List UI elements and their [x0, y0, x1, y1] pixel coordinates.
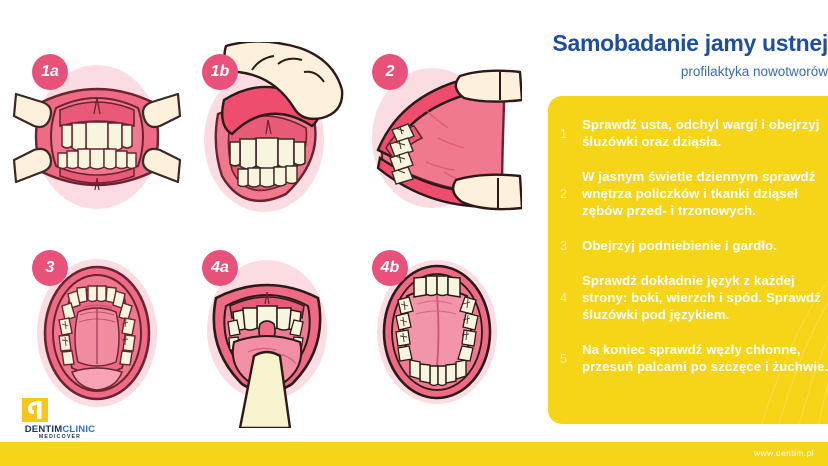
step-item: 1 Sprawdź usta, odchyl wargi i obejrzyj …	[560, 116, 828, 150]
step-badge-3: 3	[32, 250, 68, 286]
step-number: 4	[560, 290, 582, 305]
step-number: 3	[560, 238, 582, 253]
step-badge-4a: 4a	[202, 250, 238, 286]
step-item: 5 Na koniec sprawdź węzły chłonne, przes…	[560, 341, 828, 375]
page-title: Samobadanie jamy ustnej	[538, 30, 828, 57]
infographic-page: 1a 1b 2 3 4a 4b Samobadanie jamy ustnej …	[0, 0, 828, 466]
step-item: 4 Sprawdź dokładnie język z każdej stron…	[560, 272, 828, 323]
footer-bar: www.dentim.pl	[0, 442, 828, 466]
step-number: 1	[560, 126, 582, 141]
step-item: 3 Obejrzyj podniebienie i gardło.	[560, 237, 828, 254]
logo-mark-icon	[22, 398, 48, 422]
step-text: Na koniec sprawdź węzły chłonne, przesuń…	[582, 341, 828, 375]
step-badge-4b: 4b	[372, 250, 408, 286]
step-text: Obejrzyj podniebienie i gardło.	[582, 237, 777, 254]
step-badge-2: 2	[372, 54, 408, 90]
right-column: Samobadanie jamy ustnej profilaktyka now…	[528, 0, 828, 466]
steps-list: 1 Sprawdź usta, odchyl wargi i obejrzyj …	[548, 96, 828, 403]
page-subtitle: profilaktyka nowotworów	[538, 64, 828, 79]
steps-panel: 1 Sprawdź usta, odchyl wargi i obejrzyj …	[548, 96, 828, 424]
step-text: Sprawdź dokładnie język z każdej strony:…	[582, 272, 828, 323]
brand-logo: DENTIMCLINIC MEDICOVER	[12, 398, 132, 440]
step-text: W jasnym świetle dziennym sprawdź wnętrz…	[582, 168, 828, 219]
illustration-grid: 1a 1b 2 3 4a 4b	[0, 0, 520, 430]
step-number: 5	[560, 351, 582, 366]
step-item: 2 W jasnym świetle dziennym sprawdź wnęt…	[560, 168, 828, 219]
step-number: 2	[560, 186, 582, 201]
footer-url: www.dentim.pl	[754, 448, 814, 458]
step-text: Sprawdź usta, odchyl wargi i obejrzyj śl…	[582, 116, 828, 150]
step-badge-1b: 1b	[202, 54, 238, 90]
logo-subtitle: MEDICOVER	[12, 434, 108, 440]
step-badge-1a: 1a	[32, 54, 68, 90]
